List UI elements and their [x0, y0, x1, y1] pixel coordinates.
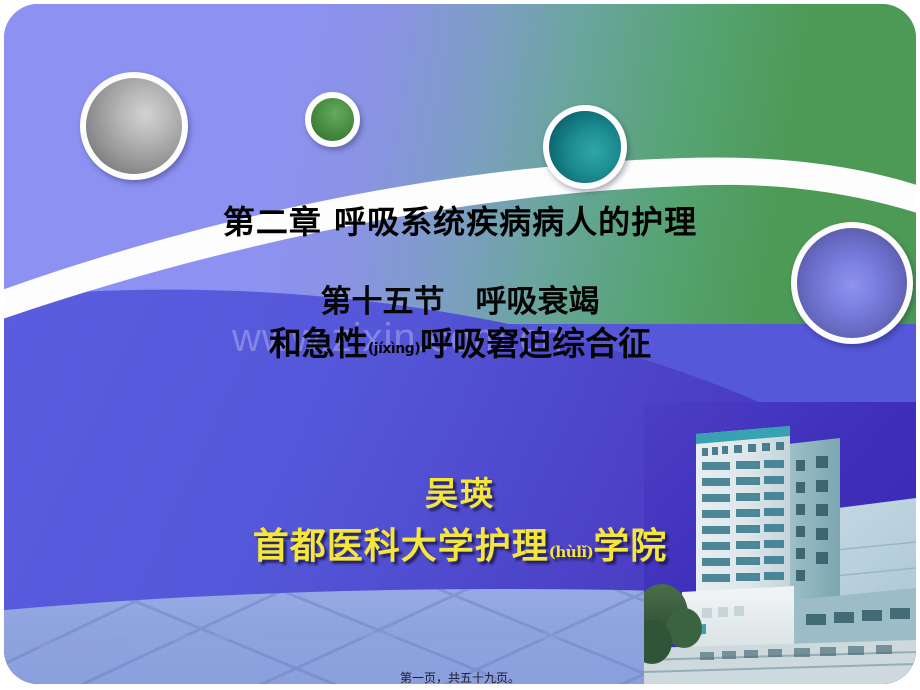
author-organization: 首都医科大学护理(hùlǐ)学院 [4, 518, 916, 580]
section-line-1: 第十五节 呼吸衰竭 [4, 282, 916, 322]
slide-title-chapter: 第二章 呼吸系统疾病病人的护理 [4, 197, 916, 243]
gray-sphere-icon [80, 72, 188, 180]
green-sphere-icon [305, 92, 360, 147]
teal-sphere-icon [543, 105, 627, 189]
slide-canvas: www.zixin.com.cn 第二章 呼吸系统疾病病人的护理 第十五节 呼吸… [4, 4, 916, 684]
author-block: 吴瑛 首都医科大学护理(hùlǐ)学院 [4, 470, 916, 580]
section-line-2-text-b: 呼吸窘迫综合征 [420, 324, 651, 363]
slide-footer-page-number: 第一页，共五十九页。 [0, 669, 920, 686]
section-line-2-text-a: 和急性 [269, 324, 368, 363]
section-line-2-pinyin: (jíxìng) [368, 341, 420, 357]
slide-title-section: 第十五节 呼吸衰竭 和急性(jíxìng)呼吸窘迫综合征 [4, 282, 916, 371]
author-org-pinyin: (hùlǐ) [549, 543, 593, 561]
presentation-slide: www.zixin.com.cn 第二章 呼吸系统疾病病人的护理 第十五节 呼吸… [0, 0, 920, 690]
author-org-text-b: 学院 [593, 525, 667, 567]
author-name: 吴瑛 [4, 470, 916, 518]
section-line-2: 和急性(jíxìng)呼吸窘迫综合征 [4, 322, 916, 371]
author-org-text-a: 首都医科大学护理 [253, 525, 549, 567]
